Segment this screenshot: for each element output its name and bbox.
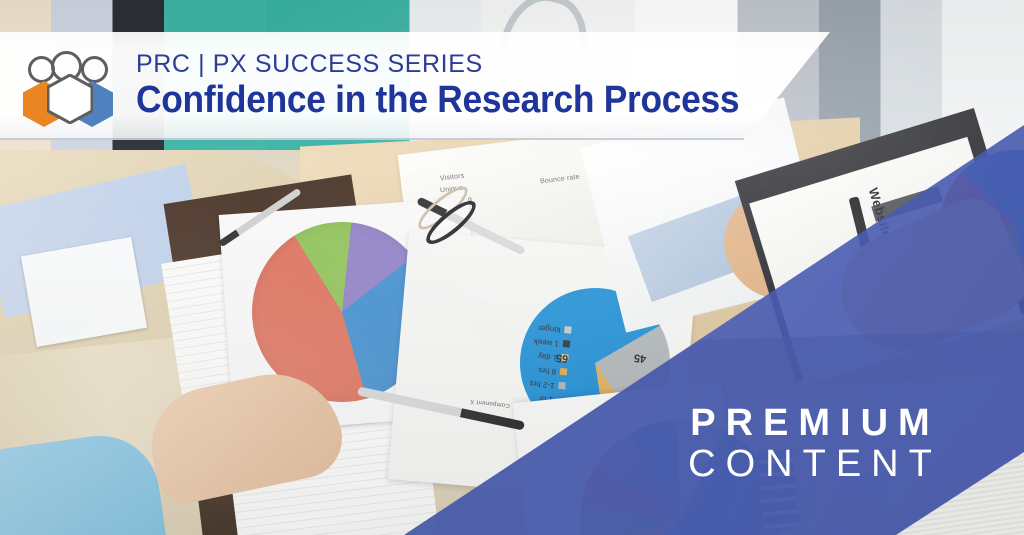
page-title: Confidence in the Research Process [136,81,739,121]
legend-label: 1 week [533,337,559,348]
name-badge [21,237,147,347]
series-kicker: PRC | PX SUCCESS SERIES [136,52,785,77]
legend-label: 6 hrs [538,366,557,376]
bar-chart-small [757,449,800,532]
chart-legend: 1 hr 1-2 hrs 6 hrs 1 day 1 week longer [474,278,576,405]
legend-label: longer [538,323,561,333]
legend-swatch-icon [560,368,568,376]
pie-value-label-2: 45 [633,351,646,364]
banner-canvas: Visitors Unique Returning Bounce rate 1 … [0,0,1024,535]
logo-hexagon-outline-icon [47,74,93,124]
pie-value-label-1: 65 [555,351,568,364]
legend-label: 1-2 hrs [529,379,555,390]
header-content: PRC | PX SUCCESS SERIES Confidence in th… [0,32,1024,140]
legend-swatch-icon [563,340,571,348]
legend-swatch-icon [564,327,572,335]
header-text-block: PRC | PX SUCCESS SERIES Confidence in th… [136,52,785,121]
legend-swatch-icon [558,382,566,390]
prc-logo[interactable] [26,48,122,124]
